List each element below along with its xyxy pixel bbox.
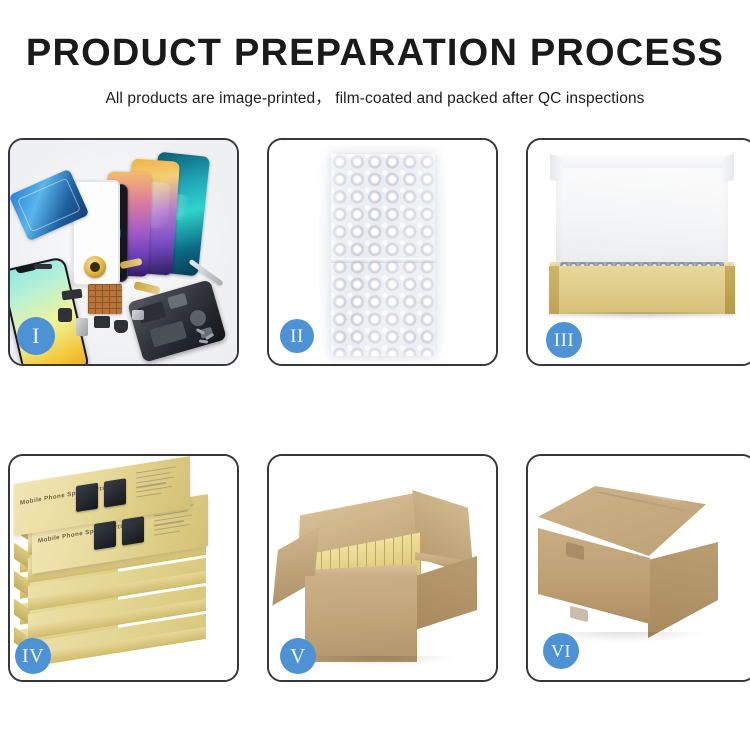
step-6-illustration: VI xyxy=(528,456,750,680)
step-2-illustration: II xyxy=(269,140,496,364)
box-shadow xyxy=(554,312,730,320)
page-subtitle: All products are image-printed， film-coa… xyxy=(0,86,750,108)
step-1-illustration: I xyxy=(10,140,237,364)
part-battery-connector-icon xyxy=(132,310,144,320)
part-sim-tray-icon xyxy=(76,318,88,336)
process-step-grid: I II III xyxy=(8,138,742,682)
step-badge-3: III xyxy=(546,322,582,358)
step-4-illustration: Mobile Phone Spare Parts Mobile Phone Sp… xyxy=(10,456,237,680)
screws-icon xyxy=(196,328,222,346)
step-panel-4[interactable]: Mobile Phone Spare Parts Mobile Phone Sp… xyxy=(8,454,239,682)
kraft-box-body-icon xyxy=(550,266,734,314)
part-camera-icon xyxy=(58,308,72,322)
box-spec-lines xyxy=(136,465,184,507)
phone-screen-print-icon xyxy=(76,483,98,512)
step-panel-6[interactable]: VI xyxy=(526,454,750,682)
page-title: PRODUCT PREPARATION PROCESS xyxy=(0,34,750,72)
carton-shadow xyxy=(303,656,453,666)
step-5-illustration: V xyxy=(269,456,496,680)
step-panel-1[interactable]: I xyxy=(8,138,239,366)
box-lid-top-edge xyxy=(562,152,722,168)
step-badge-6: VI xyxy=(543,633,579,669)
part-speaker-icon xyxy=(114,320,128,333)
step-badge-2: II xyxy=(280,319,314,353)
speaker-coil-icon xyxy=(84,256,106,278)
box-lid-back-icon xyxy=(556,156,728,274)
bubble-wrap-fold xyxy=(331,258,435,263)
part-antenna-icon xyxy=(34,264,52,269)
step-panel-5[interactable]: V xyxy=(267,454,498,682)
product-preparation-infographic: PRODUCT PREPARATION PROCESS All products… xyxy=(0,0,750,750)
bubble-wrap-sheen xyxy=(331,154,435,356)
step-badge-5: V xyxy=(280,638,316,674)
step-panel-2[interactable]: II xyxy=(267,138,498,366)
phone-screen-print-icon xyxy=(94,521,116,550)
step-badge-4: IV xyxy=(15,638,51,674)
step-panel-3[interactable]: III xyxy=(526,138,750,366)
phone-screen-print-icon xyxy=(122,516,144,545)
phone-screen-print-icon xyxy=(104,478,126,507)
step-badge-1: I xyxy=(17,317,55,355)
carton-front-panel xyxy=(305,576,417,662)
connector-grid-icon xyxy=(88,284,122,314)
part-taptic-icon xyxy=(94,316,110,328)
step-3-illustration: III xyxy=(528,140,750,364)
